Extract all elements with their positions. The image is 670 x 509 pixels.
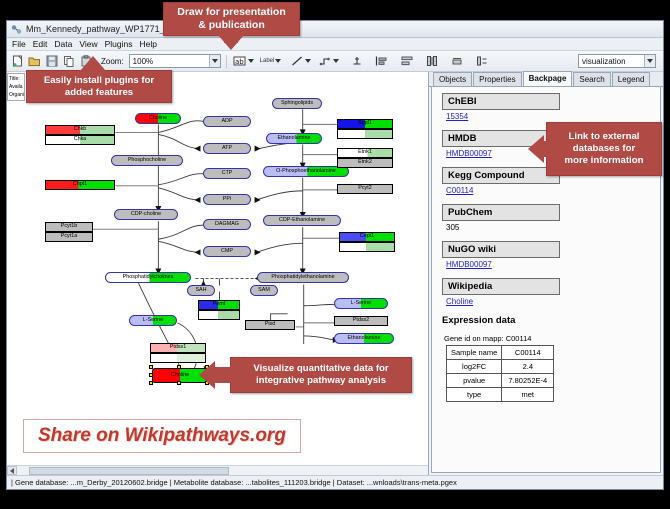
- callout-draw: Draw for presentation & publication: [163, 2, 300, 36]
- node-etnk2[interactable]: Etnk2: [337, 158, 393, 168]
- node-pisd[interactable]: Pisd: [245, 320, 295, 330]
- node-label: Pcyt2: [358, 186, 371, 191]
- node-label: PPi: [223, 197, 231, 202]
- expr-key: type: [447, 388, 502, 402]
- node-ethanolamine[interactable]: Ethanolamine: [266, 133, 322, 144]
- node-label: Pcyt1a: [61, 234, 77, 239]
- pathvisio-icon: [11, 24, 22, 35]
- expression-data-heading: Expression data: [442, 315, 660, 326]
- anchor-icon[interactable]: [349, 53, 364, 69]
- node-atp[interactable]: ATP: [203, 143, 251, 154]
- tab-objects[interactable]: Objects: [433, 72, 472, 86]
- node-choline-top[interactable]: Choline: [135, 113, 181, 124]
- menu-bar: File Edit Data View Plugins Help: [7, 38, 663, 51]
- node-label: SAH: [195, 288, 206, 293]
- callout-draw-line1: Draw for presentation: [177, 6, 286, 19]
- node-label: Choline: [149, 116, 167, 121]
- callout-links: Link to external databases for more info…: [546, 122, 662, 176]
- chevron-down-icon[interactable]: [209, 55, 220, 67]
- node-label: L-Serine: [143, 318, 163, 323]
- tab-search[interactable]: Search: [573, 72, 610, 86]
- node-phosphocholine[interactable]: Phosphocholine: [111, 155, 183, 166]
- tab-legend[interactable]: Legend: [612, 72, 651, 86]
- selection-handle[interactable]: [177, 365, 181, 369]
- node-cdp-choline[interactable]: CDP-choline: [114, 209, 178, 220]
- db-link-nugo-wiki[interactable]: HMDB00097: [446, 260, 660, 269]
- expr-key: pvalue: [447, 374, 502, 388]
- node-etnk1[interactable]: Etnk1: [337, 148, 393, 158]
- text-label-tool[interactable]: ab: [232, 53, 254, 69]
- callout-visualize-line1: Visualize quantitative data for: [253, 363, 388, 375]
- menu-file[interactable]: File: [12, 39, 26, 49]
- callout-visualize-arrow-icon: [199, 361, 215, 389]
- order-icon[interactable]: [474, 53, 489, 69]
- node-label: Chpt1: [73, 182, 87, 187]
- node-label: Phosphatidylethanolamine: [271, 275, 334, 280]
- node-label: Ptdss1: [170, 345, 186, 350]
- new-file-icon[interactable]: [10, 53, 25, 69]
- connector-icon[interactable]: [317, 53, 332, 69]
- node-label: Pemt: [213, 302, 226, 307]
- callout-plugins: Easily install plugins for added feature…: [26, 70, 172, 103]
- node-pcyt1a[interactable]: Pcyt1a: [45, 232, 93, 242]
- node-label: Choline: [171, 373, 189, 378]
- node-pemt[interactable]: Pemt: [198, 300, 240, 310]
- expr-key: log2FC: [447, 360, 502, 374]
- status-bar: | Gene database: ...m_Derby_20120602.bri…: [7, 475, 663, 489]
- callout-visualize-line2: integrative pathway analysis: [256, 375, 386, 387]
- node-label: CTP: [222, 171, 233, 176]
- menu-help[interactable]: Help: [140, 39, 157, 49]
- zoom-combobox[interactable]: 100%: [129, 54, 221, 68]
- line-icon[interactable]: [289, 53, 304, 69]
- scroll-thumb[interactable]: [29, 467, 229, 475]
- node-label: Ethanolamine: [278, 136, 311, 141]
- callout-links-arrow-icon: [528, 135, 544, 163]
- db-header-chebi: ChEBI: [442, 93, 560, 110]
- node-label: L-Serine: [351, 301, 371, 306]
- node-label: Pisd: [265, 322, 276, 327]
- node-cmp[interactable]: CMP: [203, 246, 251, 257]
- visualization-combobox[interactable]: visualization: [578, 54, 656, 68]
- align-left-icon[interactable]: [374, 53, 389, 69]
- callout-links-line1: Link to external: [569, 131, 640, 143]
- tab-backpage[interactable]: Backpage: [523, 71, 573, 86]
- menu-view[interactable]: View: [79, 39, 97, 49]
- node-cdp-ethanolamine[interactable]: CDP-Ethanolamine: [263, 215, 341, 226]
- chevron-down-icon[interactable]: [248, 59, 254, 63]
- node-chpt1[interactable]: Chpt1: [45, 180, 115, 190]
- node-label: Ethanolamine: [348, 336, 381, 341]
- node-sgpl1-lower: [337, 129, 393, 139]
- db-link-kegg-compound[interactable]: C00114: [446, 186, 660, 195]
- copy-icon[interactable]: [61, 53, 76, 69]
- node-label: Chka: [74, 137, 87, 142]
- db-link-chebi[interactable]: 15354: [446, 112, 660, 121]
- selection-handle[interactable]: [149, 373, 153, 377]
- selection-handle[interactable]: [149, 365, 153, 369]
- menu-data[interactable]: Data: [54, 39, 72, 49]
- table-row: Sample name C00114: [447, 346, 554, 360]
- menu-edit[interactable]: Edit: [33, 39, 48, 49]
- node-label: Phosphocholine: [128, 158, 166, 163]
- db-link-wikipedia[interactable]: Choline: [446, 297, 660, 306]
- node-ppi[interactable]: PPi: [203, 194, 251, 205]
- callout-links-line2: databases for: [573, 143, 635, 155]
- chevron-down-icon[interactable]: [305, 59, 311, 63]
- db-header-pubchem: PubChem: [442, 204, 560, 221]
- node-adp[interactable]: ADP: [203, 116, 251, 127]
- node-label: CDP-choline: [131, 212, 161, 217]
- callout-visualize-stem: [213, 367, 233, 383]
- expr-value: C00114: [502, 346, 554, 360]
- table-row: pvalue 7.80252E-4: [447, 374, 554, 388]
- node-label: Sgpl1: [358, 121, 372, 126]
- label-dropdown[interactable]: Label: [260, 58, 282, 64]
- node-ptdss1-lower: [150, 353, 206, 363]
- title-bar: Mm_Kennedy_pathway_WP1771_45176.gpml: [7, 21, 663, 38]
- label-dropdown-text: Label: [260, 58, 275, 64]
- callout-plugins-line1: Easily install plugins for: [44, 75, 154, 87]
- node-chkb[interactable]: Chkb: [45, 125, 115, 135]
- node-sam[interactable]: SAM: [250, 285, 278, 296]
- callout-plugins-line2: added features: [65, 87, 133, 99]
- db-value-pubchem: 305: [446, 223, 660, 232]
- meta-organism-label: Organi: [9, 91, 24, 99]
- tab-properties[interactable]: Properties: [473, 72, 521, 86]
- node-l-serine-right[interactable]: L-Serine: [334, 298, 388, 309]
- svg-text:ab: ab: [235, 58, 244, 66]
- node-label: Etnk1: [358, 150, 372, 155]
- node-label: CMP: [221, 249, 233, 254]
- node-ethanolamine-bottom[interactable]: Ethanolamine: [334, 333, 394, 344]
- db-header-nugo-wiki: NuGO wiki: [442, 241, 560, 258]
- callout-draw-line2: & publication: [198, 19, 265, 32]
- node-label: Pcyt1b: [61, 224, 77, 229]
- node-phosphatidylethanolamine[interactable]: Phosphatidylethanolamine: [257, 272, 349, 283]
- callout-plugins-arrow-icon: [80, 56, 106, 71]
- db-header-wikipedia: Wikipedia: [442, 278, 560, 295]
- node-label: Ptdss2: [353, 318, 369, 323]
- gene-id-on-mapp: Gene id on mapp: C00114: [444, 334, 660, 343]
- node-label: Phosphatidylcholines: [123, 275, 174, 280]
- visualization-value: visualization: [582, 57, 626, 66]
- node-chka[interactable]: Chka: [45, 135, 115, 145]
- pathway-canvas[interactable]: Title: Availa Organi: [7, 72, 429, 475]
- toolbar-separator: [226, 55, 227, 68]
- expr-value: 2.4: [502, 360, 554, 374]
- node-label: Etnk2: [358, 160, 372, 165]
- expr-value: met: [502, 388, 554, 402]
- text-label-icon[interactable]: ab: [232, 53, 247, 69]
- node-pcyt1b[interactable]: Pcyt1b: [45, 222, 93, 232]
- node-ptdss1[interactable]: Ptdss1: [150, 343, 206, 353]
- scroll-left-arrow[interactable]: [7, 466, 17, 475]
- sidebar-tabs: Objects Properties Backpage Search Legen…: [429, 72, 663, 87]
- canvas-meta-labels: Title: Availa Organi: [7, 73, 25, 101]
- db-header-kegg-compound: Kegg Compound: [442, 167, 560, 184]
- node-sah[interactable]: SAH: [187, 285, 215, 296]
- node-pemt-lower: [198, 310, 240, 320]
- zoom-value: 100%: [133, 57, 153, 66]
- node-pcyt2[interactable]: Pcyt2: [337, 184, 393, 194]
- node-label: ATP: [222, 146, 232, 151]
- chevron-down-icon[interactable]: [644, 55, 655, 67]
- node-ptdss2[interactable]: Ptdss2: [334, 316, 388, 326]
- node-label: Chkb: [74, 127, 87, 132]
- line-tool[interactable]: [289, 53, 311, 69]
- node-l-serine-left[interactable]: L-Serine: [129, 315, 177, 326]
- node-sphingolipids[interactable]: Sphingolipids: [272, 98, 322, 109]
- node-label: O-Phosphoethanolamine: [276, 169, 336, 174]
- selection-handle[interactable]: [149, 381, 153, 385]
- expression-table: Sample name C00114 log2FC 2.4 pvalue 7.8…: [446, 345, 554, 402]
- table-row: type met: [447, 388, 554, 402]
- distribute-icon[interactable]: [399, 53, 414, 69]
- menu-plugins[interactable]: Plugins: [105, 39, 133, 49]
- node-label: SAM: [258, 288, 270, 293]
- callout-visualize: Visualize quantitative data for integrat…: [230, 357, 412, 393]
- expr-key: Sample name: [447, 346, 502, 360]
- stack-icon[interactable]: [449, 53, 464, 69]
- status-text: | Gene database: ...m_Derby_20120602.bri…: [11, 478, 457, 487]
- node-dagmag[interactable]: DAGMAG: [203, 219, 251, 230]
- node-label: DAGMAG: [215, 222, 239, 227]
- chevron-down-icon[interactable]: [275, 59, 281, 63]
- table-row: log2FC 2.4: [447, 360, 554, 374]
- chevron-down-icon[interactable]: [333, 59, 339, 63]
- group-icon[interactable]: [424, 53, 439, 69]
- node-cept1[interactable]: Cept1: [339, 232, 395, 242]
- callout-draw-arrow-icon: [218, 35, 244, 50]
- share-banner: Share on Wikipathways.org: [23, 419, 301, 453]
- connector-tool[interactable]: [317, 53, 339, 69]
- node-label: ADP: [221, 119, 232, 124]
- node-label: CDP-Ethanolamine: [279, 218, 325, 223]
- meta-available-label: Availa: [9, 83, 24, 91]
- node-cept1-lower: [339, 242, 395, 252]
- selection-handle[interactable]: [177, 381, 181, 385]
- node-label: Sphingolipids: [281, 101, 313, 106]
- canvas-hscrollbar[interactable]: [7, 465, 428, 475]
- node-phosphatidylcholines[interactable]: Phosphatidylcholines: [105, 272, 191, 283]
- open-folder-icon[interactable]: [27, 53, 42, 69]
- node-label: Cept1: [360, 234, 374, 239]
- expr-value: 7.80252E-4: [502, 374, 554, 388]
- callout-links-line3: more information: [565, 155, 644, 167]
- meta-title-label: Title:: [9, 75, 24, 83]
- node-sgpl1[interactable]: Sgpl1: [337, 119, 393, 129]
- save-icon[interactable]: [44, 53, 59, 69]
- node-ctp[interactable]: CTP: [203, 168, 251, 179]
